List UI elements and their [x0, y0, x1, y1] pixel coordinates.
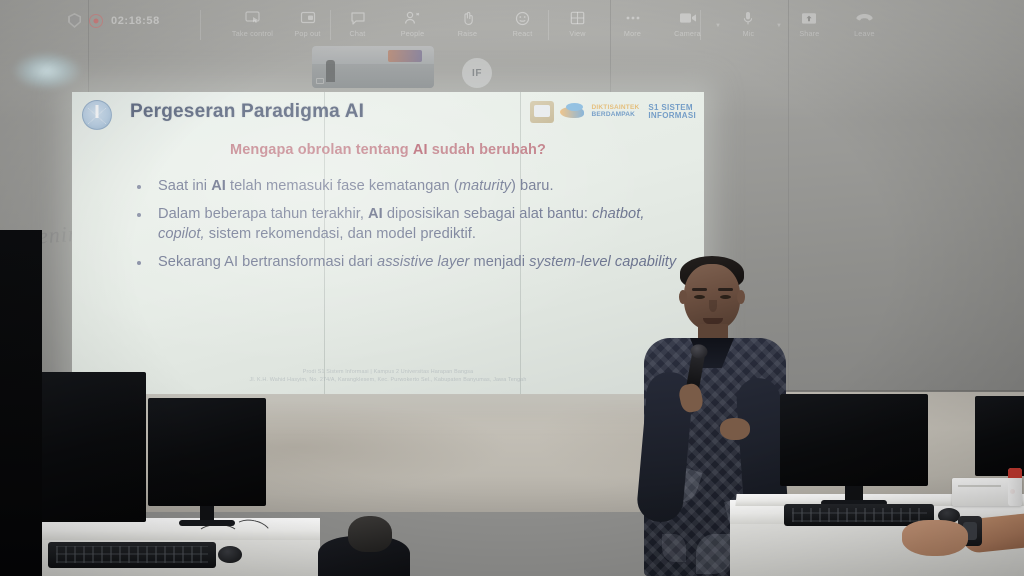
monitor-far-right [975, 396, 1024, 476]
universitas-logo [530, 101, 554, 123]
projected-slide: Pergeseran Paradigma AI DIKTISAINTEK BER… [72, 92, 704, 394]
presenter-eye [720, 295, 731, 299]
monitor-left-foreground [30, 372, 146, 522]
ceiling-light-glare [12, 52, 82, 90]
participant-avatar[interactable]: IF [462, 58, 492, 88]
slide-brand-logos: DIKTISAINTEK BERDAMPAK S1 SISTEM INFORMA… [530, 101, 697, 123]
bullet-text-run: AI [368, 206, 383, 222]
bullet-text-run: ) baru. [511, 178, 554, 194]
bullet-text-run: assistive layer [377, 254, 469, 270]
shared-video-thumbnail[interactable] [312, 46, 434, 88]
monitor-left-back [148, 398, 266, 506]
presenter-eyebrow [718, 288, 733, 291]
bullet-text-run: Sekarang AI bertransformasi dari [158, 254, 377, 270]
slide-footer: Prodi S1 Sistem Informasi | Kampus 2 Uni… [72, 368, 704, 384]
footer-line-1: Prodi S1 Sistem Informasi | Kampus 2 Uni… [72, 368, 704, 376]
bullet-text-run: maturity [459, 178, 511, 194]
slide-header: Pergeseran Paradigma AI DIKTISAINTEK BER… [72, 92, 704, 136]
subtitle-part-b: sudah berubah? [428, 142, 546, 158]
water-bottle [1008, 468, 1022, 506]
slide-title: Pergeseran Paradigma AI [130, 101, 364, 123]
bullet-text-run: sistem rekomendasi, dan model prediktif. [205, 226, 476, 242]
presenter-nose [709, 300, 717, 312]
slide-subtitle: Mengapa obrolan tentang AI sudah berubah… [72, 142, 704, 158]
bullet-text-run: Dalam beberapa tahun terakhir, [158, 206, 368, 222]
berdampak-bird-icon [560, 102, 586, 122]
prodi-wordmark: S1 SISTEM INFORMASI [648, 104, 696, 121]
attendee-hand [902, 520, 968, 556]
bullet-text-run: menjadi [469, 254, 529, 270]
monitor-far-left-edge [0, 230, 42, 576]
footer-line-2: Jl. K.H. Wahid Hasyim, No. 274/A, Karang… [72, 376, 704, 384]
presenter-ear [737, 290, 745, 304]
monitor-right [780, 394, 928, 486]
bullet-1: Saat ini AI telah memasuki fase kematang… [130, 177, 678, 196]
bullet-text-run: AI [211, 178, 226, 194]
presenter-hand-right [720, 418, 750, 440]
keyboard-left [48, 542, 216, 568]
prodi-line-2: INFORMASI [648, 112, 696, 120]
attendee-head [348, 516, 392, 552]
berdampak-line-2: BERDAMPAK [592, 112, 640, 119]
presenter-eye [694, 295, 705, 299]
bullet-2: Dalam beberapa tahun terakhir, AI diposi… [130, 205, 678, 244]
slide-bullet-list: Saat ini AI telah memasuki fase kematang… [130, 177, 678, 282]
presenter-ear [679, 290, 687, 304]
subtitle-part-a: Mengapa obrolan tentang [230, 142, 413, 158]
tut-wuri-handayani-logo [82, 100, 112, 130]
berdampak-wordmark: DIKTISAINTEK BERDAMPAK [592, 105, 640, 118]
subtitle-highlight: AI [413, 142, 428, 158]
presenter-eyebrow [692, 288, 707, 291]
bullet-3: Sekarang AI bertransformasi dari assisti… [130, 253, 678, 272]
bullet-text-run: diposisikan sebagai alat bantu: [383, 206, 592, 222]
bullet-text-run: Saat ini [158, 178, 211, 194]
screenshot-root: enin Pergeseran Paradigma AI DIKTISAINTE… [0, 0, 1024, 576]
mouse-left [218, 546, 242, 563]
bullet-text-run: telah memasuki fase kematangan ( [226, 178, 459, 194]
